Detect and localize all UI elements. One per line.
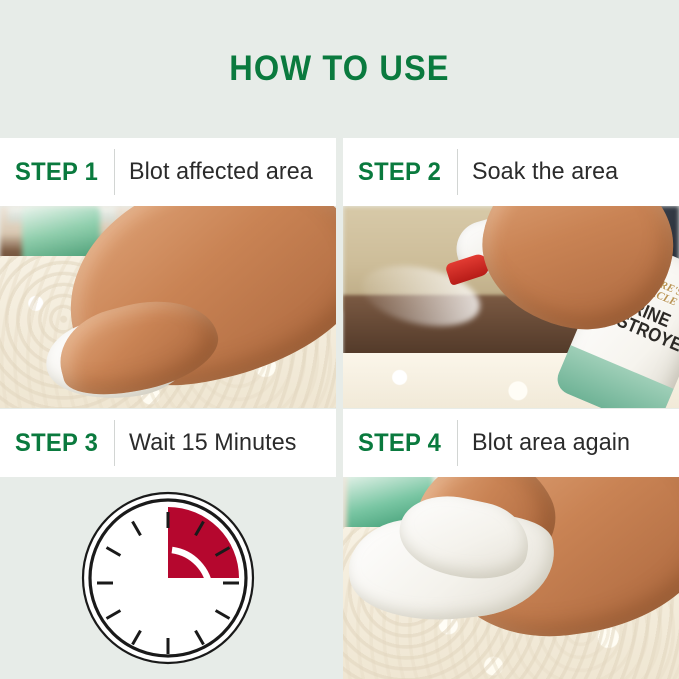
- clock-illustration: [0, 477, 336, 679]
- step-card-4: STEP 4 Blot area again: [343, 409, 679, 679]
- step-1-description: Blot affected area: [129, 158, 313, 186]
- step-2-description: Soak the area: [472, 158, 618, 186]
- clock-icon: [80, 490, 256, 666]
- page-title-bar: HOW TO USE: [0, 0, 679, 138]
- step-3-divider: [114, 420, 115, 466]
- step-4-label: STEP 4: [358, 429, 441, 458]
- step-3-media: [0, 477, 336, 679]
- step-card-3: STEP 3 Wait 15 Minutes: [0, 409, 336, 679]
- step-3-label: STEP 3: [15, 429, 98, 458]
- step-2-header: STEP 2 Soak the area: [343, 138, 679, 206]
- step-1-header: STEP 1 Blot affected area: [0, 138, 336, 206]
- step-1-label: STEP 1: [15, 158, 98, 187]
- step-2-divider: [457, 149, 458, 195]
- photo-hand-blotting-again: [343, 477, 679, 679]
- step-4-description: Blot area again: [472, 429, 630, 457]
- step-4-header: STEP 4 Blot area again: [343, 409, 679, 477]
- step-3-description: Wait 15 Minutes: [129, 429, 297, 457]
- photo-spraying-cleaner: NATURE'S MIRACLE URINE DESTROYER: [343, 206, 679, 408]
- steps-grid: STEP 1 Blot affected area STEP 2: [0, 138, 679, 679]
- step-card-2: STEP 2 Soak the area NATURE'S MIRACLE UR…: [343, 138, 679, 408]
- step-card-1: STEP 1 Blot affected area: [0, 138, 336, 408]
- step-4-media: [343, 477, 679, 679]
- step-3-header: STEP 3 Wait 15 Minutes: [0, 409, 336, 477]
- how-to-use-infographic: HOW TO USE STEP 1 Blot affected area: [0, 0, 679, 679]
- page-title: HOW TO USE: [229, 49, 449, 89]
- step-4-divider: [457, 420, 458, 466]
- step-2-label: STEP 2: [358, 158, 441, 187]
- step-2-media: NATURE'S MIRACLE URINE DESTROYER: [343, 206, 679, 408]
- step-1-media: [0, 206, 336, 408]
- photo-hand-blotting-carpet: [0, 206, 336, 408]
- step-1-divider: [114, 149, 115, 195]
